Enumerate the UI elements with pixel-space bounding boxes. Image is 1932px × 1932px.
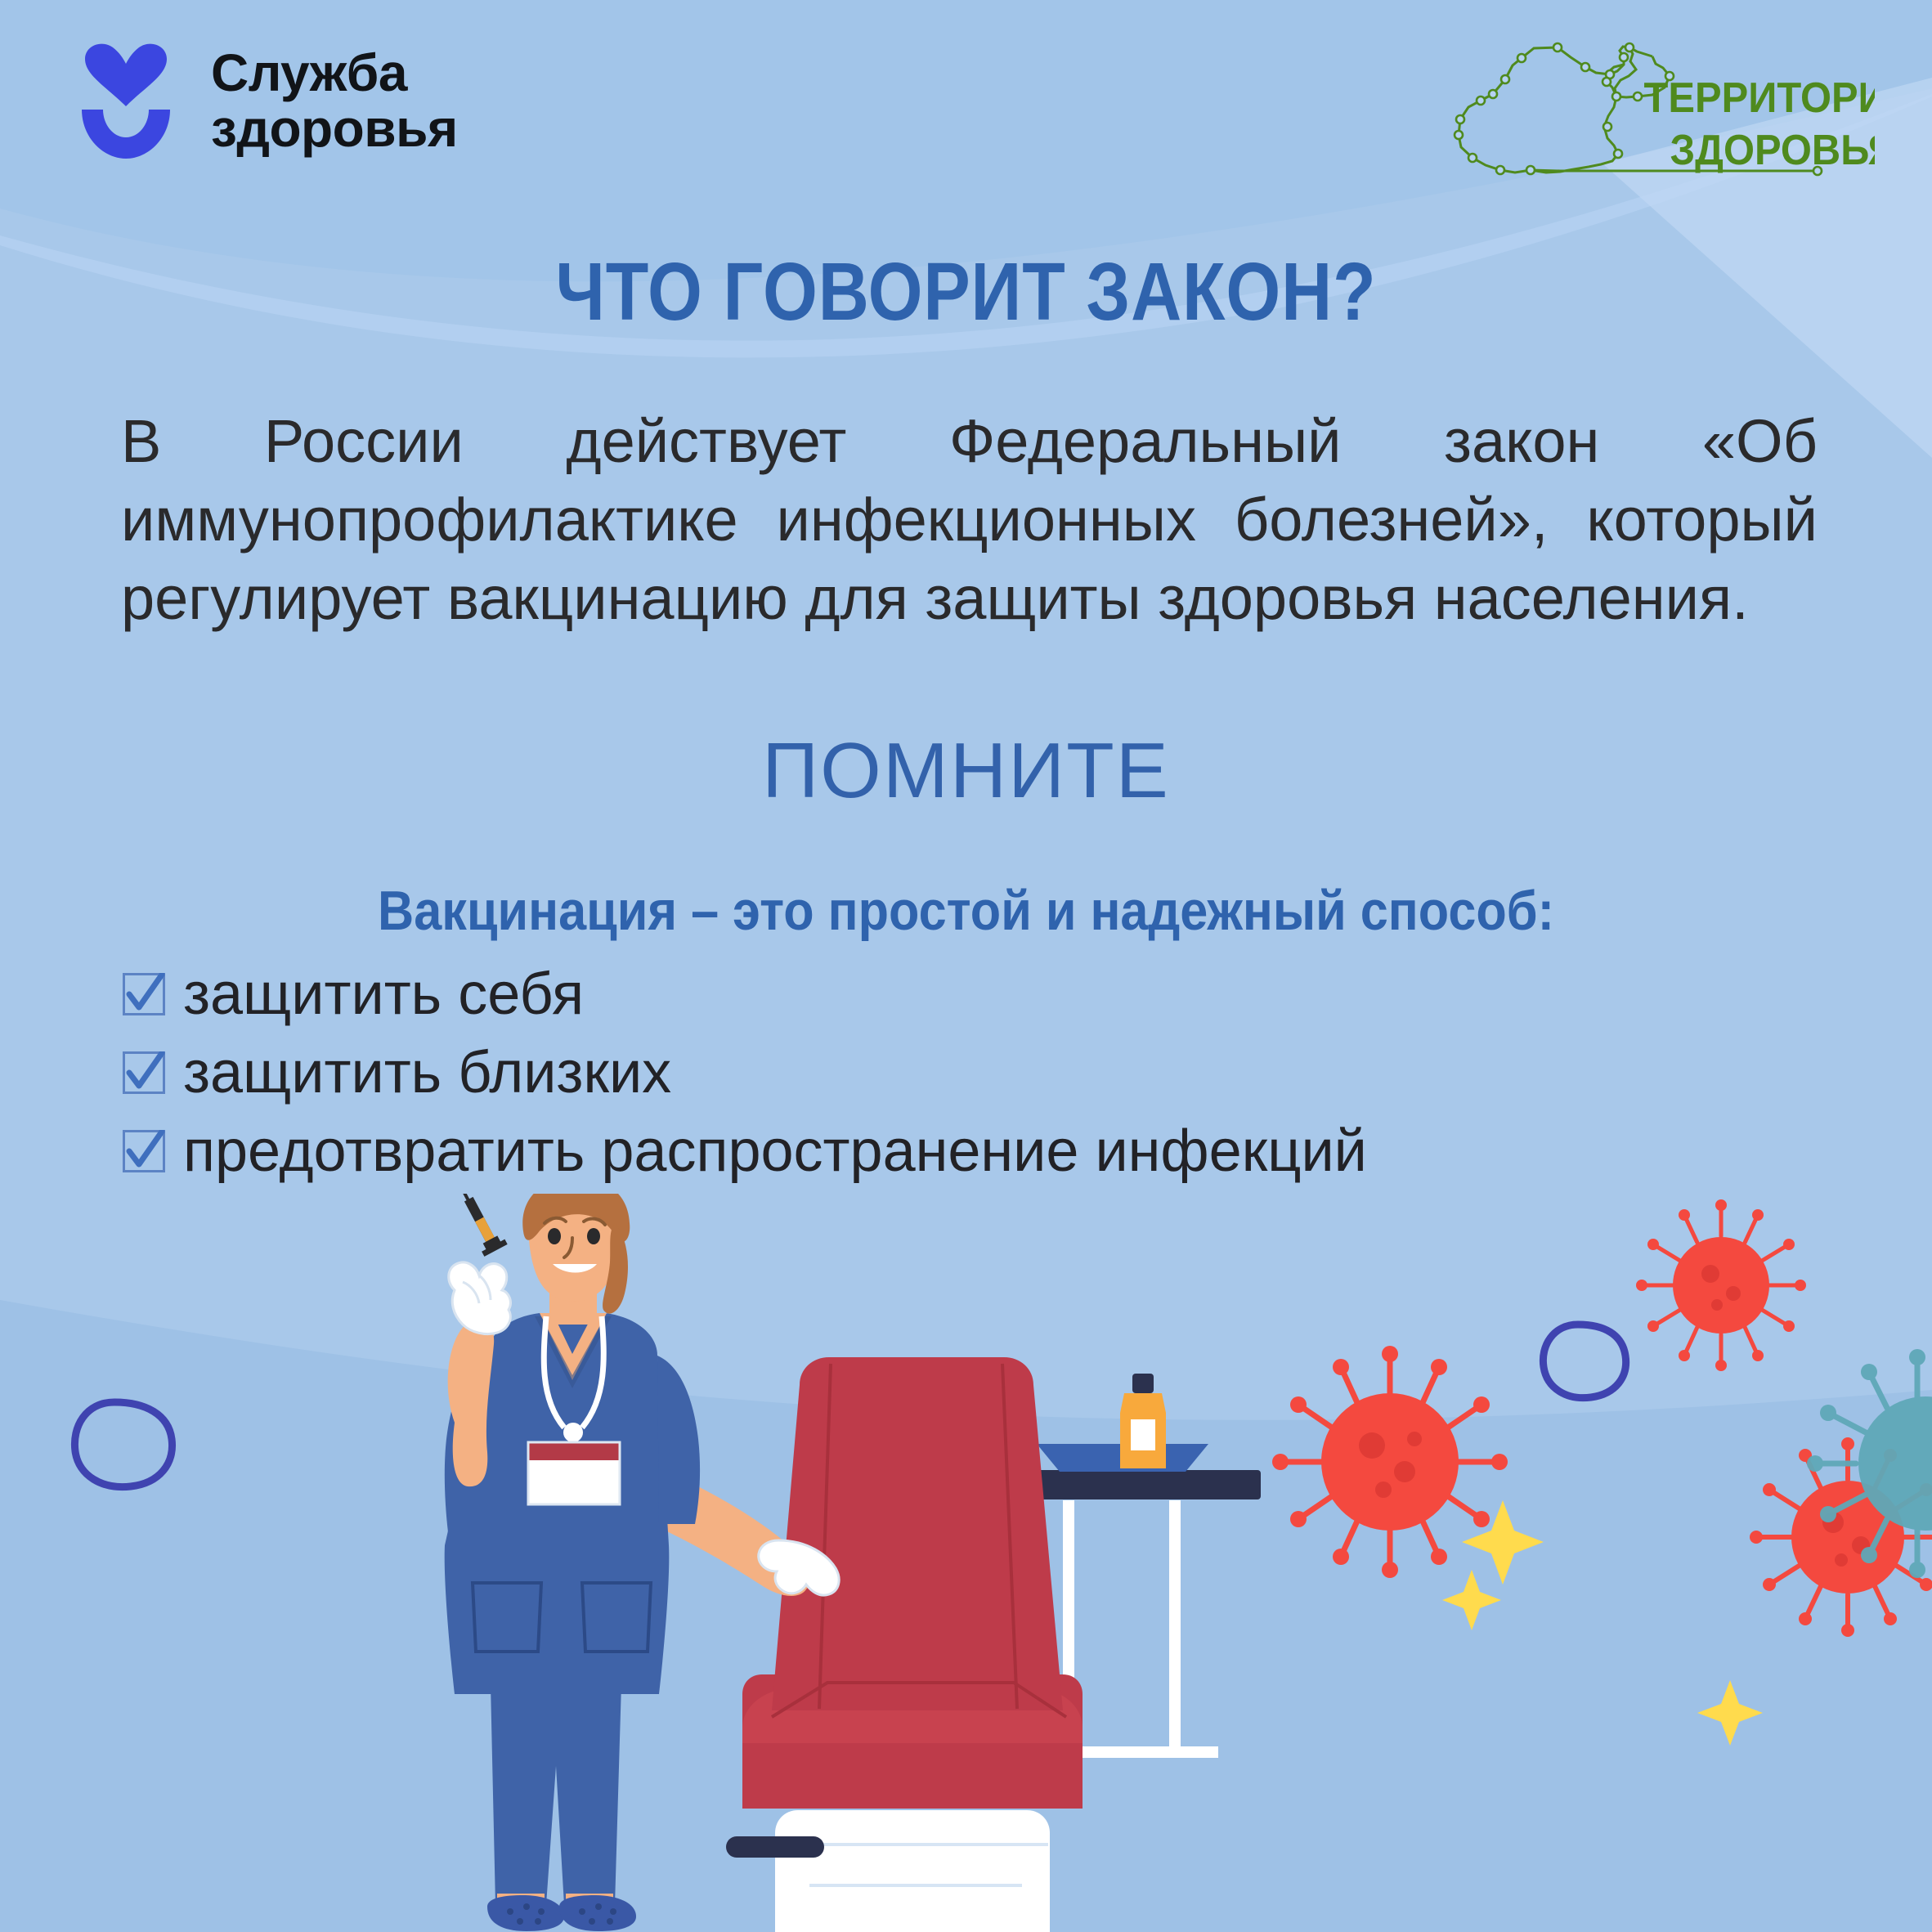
poster-canvas: Служба здоровья ТЕРРИТОРИЯ ЗДОРО (0, 0, 1932, 1932)
page-title: ЧТО ГОВОРИТ ЗАКОН? (135, 245, 1796, 339)
brand-left-line2: здоровья (211, 101, 458, 156)
heart-smile-logo-icon (74, 39, 178, 162)
vaccination-chair (726, 1357, 1083, 1932)
illustration-scene (0, 1194, 1932, 1932)
medical-cart (1022, 1374, 1261, 1932)
outlined-blob-icon (74, 1402, 172, 1487)
chair-pedal (726, 1836, 824, 1858)
list-item: защитить себя (123, 965, 1676, 1024)
checklist-label: защитить близких (183, 1043, 671, 1102)
nurse-id-badge (528, 1442, 620, 1504)
glove-icon (449, 1262, 511, 1334)
list-item: защитить близких (123, 1043, 1676, 1102)
benefits-checklist: защитить себя защитить близких предотвра… (123, 965, 1676, 1200)
checkbox-checked-icon (123, 1051, 165, 1094)
checklist-subheading: Вакцинация – это простой и надежный спос… (96, 879, 1836, 943)
bottle-label (1131, 1419, 1155, 1450)
nurse-trousers (491, 1684, 621, 1905)
virus-icon (1636, 1199, 1806, 1371)
sparkle-icon (1442, 1570, 1501, 1630)
syringe-icon (444, 1194, 508, 1257)
brand-right-line2: ЗДОРОВЬЯ (1670, 126, 1875, 174)
law-paragraph: В России действует Федеральный закон «Об… (121, 402, 1818, 639)
outlined-blob-icon (1543, 1325, 1625, 1398)
sparkle-icon (1697, 1680, 1763, 1746)
brand-right-line1: ТЕРРИТОРИЯ (1644, 74, 1875, 122)
brand-logo-left: Служба здоровья (74, 39, 458, 162)
checkbox-checked-icon (123, 1130, 165, 1172)
nurse-arm-left (448, 1319, 494, 1486)
brand-left-wordmark: Служба здоровья (211, 45, 458, 157)
bottle-cap (1132, 1374, 1154, 1393)
brand-logo-right: ТЕРРИТОРИЯ ЗДОРОВЬЯ (1433, 37, 1875, 188)
checkbox-checked-icon (123, 973, 165, 1015)
checklist-label: защитить себя (183, 965, 584, 1024)
remember-heading: ПОМНИТЕ (0, 726, 1932, 816)
brand-left-line1: Служба (211, 45, 458, 101)
list-item: предотвратить распространение инфекций (123, 1122, 1676, 1181)
checklist-label: предотвратить распространение инфекций (183, 1122, 1367, 1181)
